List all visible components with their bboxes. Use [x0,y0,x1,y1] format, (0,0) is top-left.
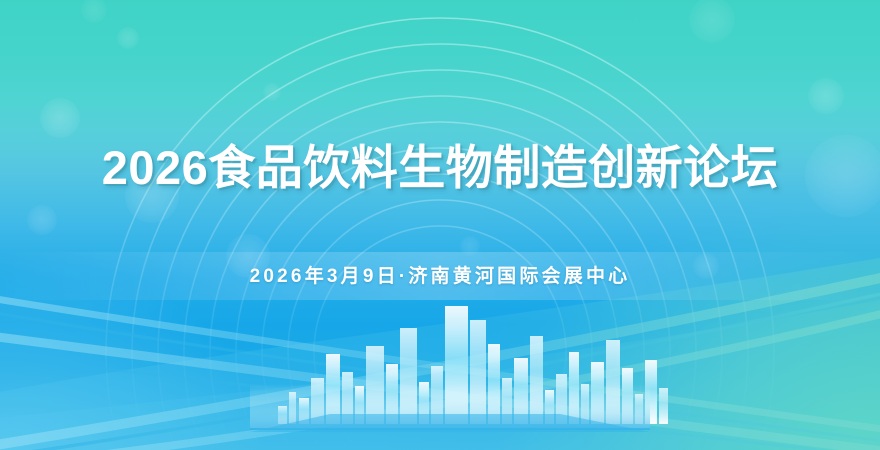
event-banner: 2026食品饮料生物制造创新论坛 2026年3月9日·济南黄河国际会展中心 [0,0,880,450]
event-date-venue: 2026年3月9日·济南黄河国际会展中心 [0,264,880,290]
city-skyline-bars [0,0,880,450]
skyline-bar [659,388,668,424]
page-title: 2026食品饮料生物制造创新论坛 [0,139,880,197]
